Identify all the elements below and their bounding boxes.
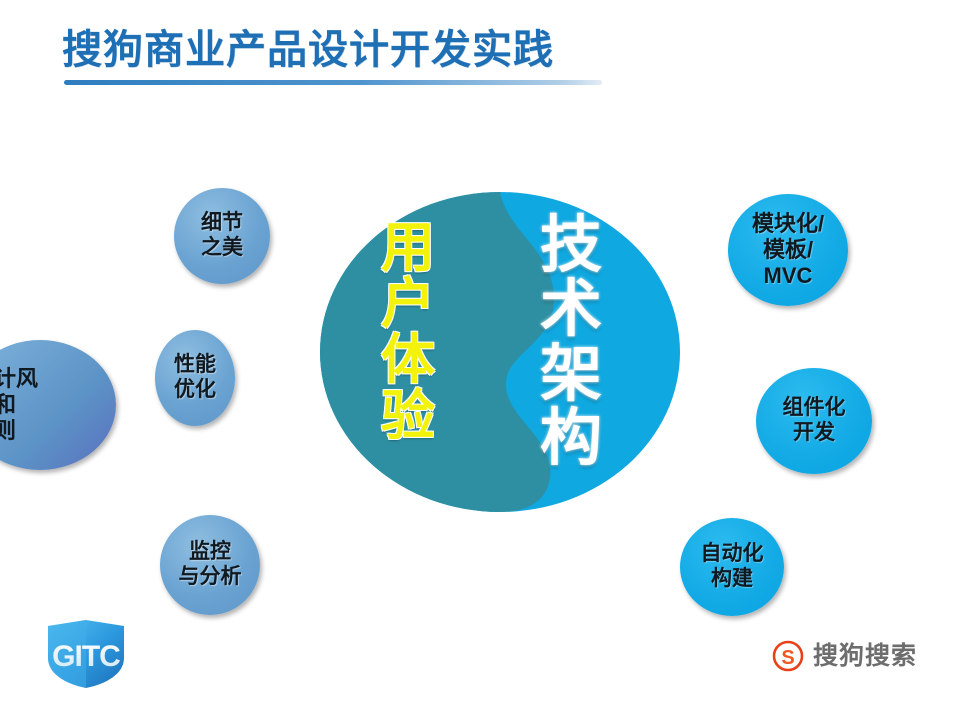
sogou-wordmark: 搜狗搜索 xyxy=(813,640,917,672)
gitc-logo: GITC xyxy=(34,618,138,690)
bubble-automated-build[interactable]: 自动化 构建 xyxy=(680,518,784,616)
bubble-monitoring-analysis[interactable]: 监控 与分析 xyxy=(160,515,260,615)
sogou-s-mark-icon: S xyxy=(772,640,804,672)
sogou-logo: S 搜狗搜索 xyxy=(772,638,917,674)
yin-yang-diagram: 用户 体验 技术 架构 xyxy=(320,192,680,512)
title-underline-rule xyxy=(64,80,602,85)
page-title: 搜狗商业产品设计开发实践 xyxy=(62,26,622,74)
gitc-wordmark: GITC xyxy=(52,640,120,673)
title-block: 搜狗商业产品设计开发实践 xyxy=(62,26,622,92)
sogou-mark-letter: S xyxy=(781,647,794,669)
bubble-modular-template-mvc[interactable]: 模块化/ 模板/ MVC xyxy=(728,194,848,306)
core-label-tech-architecture: 技术 架构 xyxy=(516,214,626,472)
bubble-component-development[interactable]: 组件化 开发 xyxy=(756,368,872,474)
bubble-detail-beauty[interactable]: 细节 之美 xyxy=(174,188,270,284)
core-label-user-experience: 用户 体验 xyxy=(360,220,456,445)
slide-canvas: 搜狗商业产品设计开发实践 用户 体验 技术 架构 细节 之美 性能 优化 设计风… xyxy=(0,0,960,720)
bubble-performance-optimization[interactable]: 性能 优化 xyxy=(155,330,235,426)
bubble-design-principles[interactable]: 设计风 格和 原则 xyxy=(0,340,116,470)
